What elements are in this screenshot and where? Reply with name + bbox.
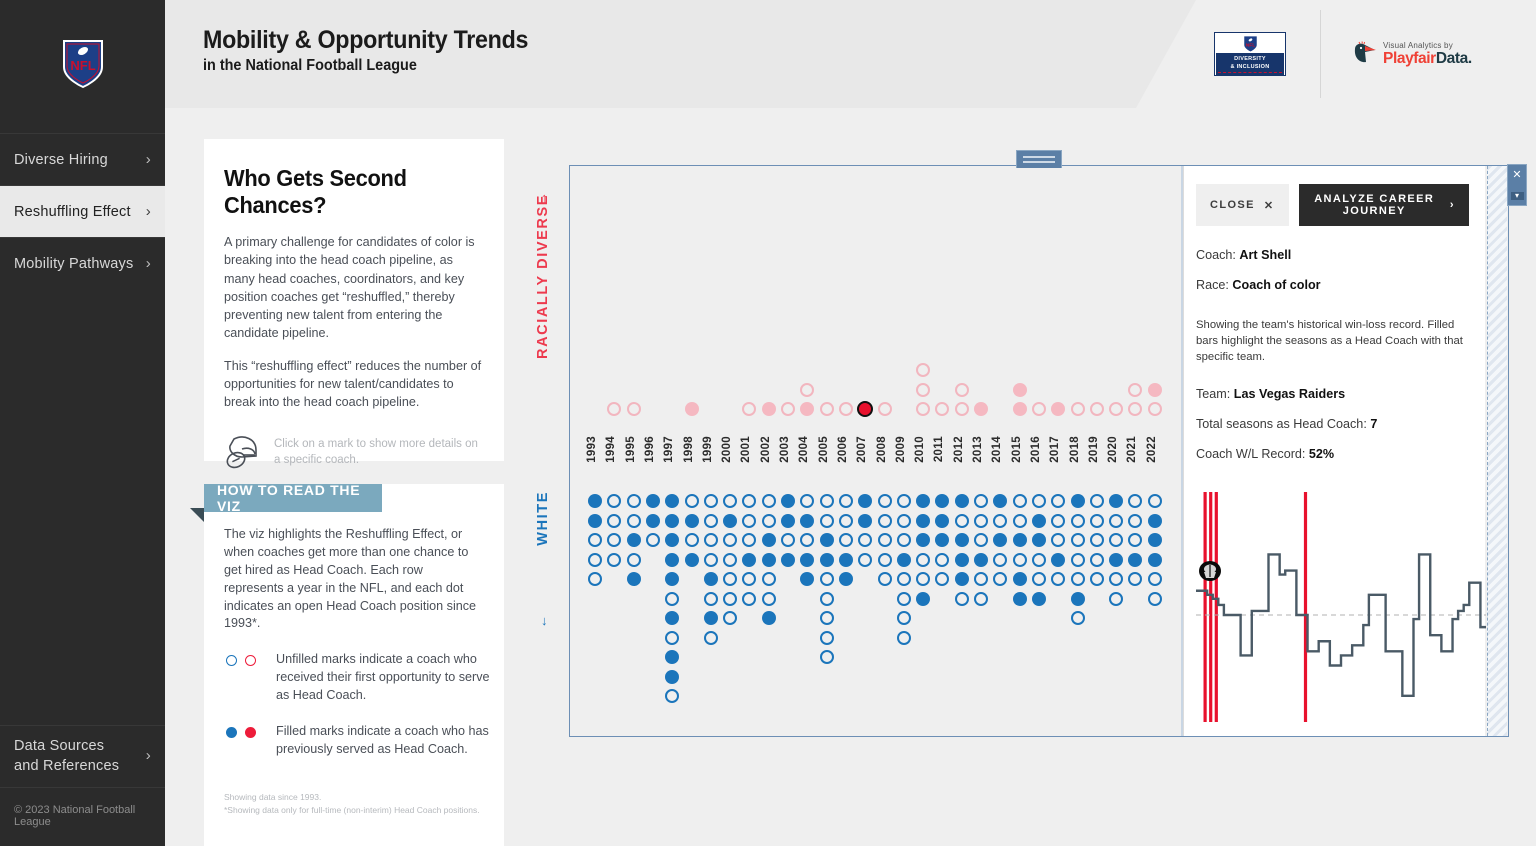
coach-dot-white[interactable] — [665, 572, 679, 586]
legend-text-filled: Filled marks indicate a coach who has pr… — [276, 723, 504, 759]
coach-dot-diverse[interactable] — [955, 383, 969, 397]
logo-divider — [1320, 10, 1321, 98]
coach-dot-diverse[interactable] — [916, 402, 930, 416]
sidebar-footer: Data Sources and References › © 2023 Nat… — [0, 725, 165, 846]
coach-dot-white[interactable] — [1071, 553, 1085, 567]
coach-dot-diverse[interactable] — [974, 402, 988, 416]
coach-dot-diverse[interactable] — [800, 402, 814, 416]
coach-dot-white[interactable] — [627, 494, 641, 508]
axis-label-white: WHITE — [535, 491, 551, 546]
coach-dot-white[interactable] — [781, 514, 795, 528]
coach-dot-white[interactable] — [588, 514, 602, 528]
coach-dot-white[interactable] — [897, 553, 911, 567]
coach-dot-white[interactable] — [800, 514, 814, 528]
coach-detail-panel: CLOSE ✕ ANALYZE CAREER JOURNEY › Coach: … — [1183, 166, 1485, 736]
year-label: 1994 — [605, 436, 617, 463]
sidebar-item-label: Data Sources and References — [14, 737, 124, 776]
coach-dot-white[interactable] — [1109, 553, 1123, 567]
coach-dot-white[interactable] — [762, 514, 776, 528]
how-to-read-tab: HOW TO READ THE VIZ — [204, 484, 382, 512]
coach-dot-white[interactable] — [704, 514, 718, 528]
coach-dot-white[interactable] — [1051, 533, 1065, 547]
header-title-block: Mobility & Opportunity Trends in the Nat… — [203, 26, 553, 75]
coach-dot-white[interactable] — [685, 533, 699, 547]
year-label: 2001 — [740, 436, 752, 463]
coach-dot-white[interactable] — [1013, 533, 1027, 547]
coach-dot-white[interactable] — [878, 572, 892, 586]
coach-dot-white[interactable] — [897, 592, 911, 606]
panel-right-frame — [1487, 166, 1507, 736]
legend-row-filled: Filled marks indicate a coach who has pr… — [218, 723, 504, 759]
legend-filled-blue-dot-icon — [226, 727, 237, 738]
coach-dot-diverse[interactable] — [1128, 383, 1142, 397]
coach-dot-white[interactable] — [1148, 592, 1162, 606]
coach-dot-white[interactable] — [1128, 514, 1142, 528]
svg-text:NFL: NFL — [1245, 42, 1255, 48]
coach-dot-white[interactable] — [1109, 572, 1123, 586]
panel-close-controls[interactable]: ✕ ▾ — [1507, 164, 1527, 206]
coach-dot-white[interactable] — [665, 611, 679, 625]
coach-dot-white[interactable] — [685, 553, 699, 567]
coach-dot-white[interactable] — [897, 631, 911, 645]
coach-dot-white[interactable] — [704, 572, 718, 586]
coach-dot-white[interactable] — [762, 572, 776, 586]
coach-dot-white[interactable] — [955, 553, 969, 567]
coach-dot-white[interactable] — [897, 494, 911, 508]
legend-filled-red-dot-icon — [245, 727, 256, 738]
coach-dot-white[interactable] — [935, 514, 949, 528]
intro-card: Who Gets Second Chances? A primary chall… — [204, 139, 504, 461]
footnotes: Showing data since 1993. *Showing data o… — [224, 791, 486, 818]
coach-dot-white[interactable] — [820, 553, 834, 567]
coach-dot-white[interactable] — [1090, 553, 1104, 567]
coach-dot-diverse[interactable] — [1090, 402, 1104, 416]
chevron-right-icon: › — [146, 746, 151, 766]
coach-dot-white[interactable] — [685, 494, 699, 508]
sidebar-item-reshuffling-effect[interactable]: Reshuffling Effect › — [0, 185, 165, 237]
copyright-text: © 2023 National Football League — [0, 787, 165, 846]
coach-label: Coach: — [1196, 248, 1236, 262]
coach-dot-diverse[interactable] — [1013, 383, 1027, 397]
coach-dot-white[interactable] — [762, 553, 776, 567]
coach-dot-white[interactable] — [665, 592, 679, 606]
coach-dot-white[interactable] — [955, 533, 969, 547]
coach-dot-white[interactable] — [665, 670, 679, 684]
coach-dot-white[interactable] — [1032, 592, 1046, 606]
coach-dot-white[interactable] — [878, 553, 892, 567]
year-label: 1996 — [644, 436, 656, 463]
coach-dot-white[interactable] — [955, 494, 969, 508]
legend-row-unfilled: Unfilled marks indicate a coach who rece… — [218, 651, 504, 705]
coach-dot-white[interactable] — [1090, 572, 1104, 586]
intro-title: Who Gets Second Chances? — [224, 165, 471, 219]
coach-dot-white[interactable] — [1032, 553, 1046, 567]
coach-dot-diverse[interactable] — [1013, 402, 1027, 416]
sidebar-item-label: Reshuffling Effect — [14, 204, 131, 220]
header-logos: NFL DIVERSITY & INCLUSION Visual Analyti… — [1190, 0, 1536, 108]
coach-dot-white[interactable] — [839, 553, 853, 567]
race-label: Race: — [1196, 278, 1229, 292]
coach-dot-white[interactable] — [955, 572, 969, 586]
coach-dot-white[interactable] — [781, 494, 795, 508]
sidebar-item-label: Diverse Hiring — [14, 152, 108, 168]
coach-dot-white[interactable] — [897, 514, 911, 528]
coach-dot-white[interactable] — [704, 553, 718, 567]
coach-dot-white[interactable] — [820, 533, 834, 547]
coach-dot-diverse[interactable] — [935, 402, 949, 416]
coach-dot-white[interactable] — [800, 533, 814, 547]
legend-marks-filled — [218, 723, 264, 738]
coach-dot-white[interactable] — [878, 494, 892, 508]
sidebar-item-mobility-pathways[interactable]: Mobility Pathways › — [0, 237, 165, 289]
chevron-right-icon: › — [1450, 199, 1455, 211]
coach-dot-white[interactable] — [704, 592, 718, 606]
coach-dot-diverse[interactable] — [1051, 402, 1065, 416]
intro-paragraph-2: This “reshuffling effect” reduces the nu… — [224, 357, 484, 412]
win-loss-record-chart — [1196, 488, 1486, 730]
coach-dot-white[interactable] — [665, 494, 679, 508]
coach-dot-diverse[interactable] — [1148, 402, 1162, 416]
coach-dot-diverse[interactable] — [820, 402, 834, 416]
coach-dot-white[interactable] — [974, 553, 988, 567]
coach-dot-white[interactable] — [916, 514, 930, 528]
coach-dot-white[interactable] — [627, 533, 641, 547]
coach-dot-white[interactable] — [1051, 572, 1065, 586]
chevron-down-icon[interactable]: ▾ — [1511, 192, 1524, 200]
coach-dot-white[interactable] — [935, 533, 949, 547]
playfair-tagline: Visual Analytics by — [1383, 41, 1472, 50]
coach-dot-white[interactable] — [1148, 553, 1162, 567]
coach-dot-white[interactable] — [723, 533, 737, 547]
sidebar-logo: NFL — [0, 0, 165, 125]
coach-dot-white[interactable] — [723, 592, 737, 606]
coach-dot-white[interactable] — [665, 533, 679, 547]
raiders-logo-icon — [1198, 560, 1222, 582]
analyze-career-journey-button[interactable]: ANALYZE CAREER JOURNEY › — [1299, 184, 1469, 226]
legend-marks-unfilled — [218, 651, 264, 666]
page-subtitle: in the National Football League — [203, 57, 528, 75]
coach-dot-white[interactable] — [993, 553, 1007, 567]
coach-dot-white[interactable] — [974, 494, 988, 508]
coach-dot-white[interactable] — [1148, 572, 1162, 586]
year-label: 2015 — [1011, 436, 1023, 463]
coach-dot-white[interactable] — [839, 494, 853, 508]
coach-dot-white[interactable] — [665, 514, 679, 528]
race-row: Race: Coach of color — [1196, 278, 1469, 292]
close-icon: ✕ — [1264, 199, 1275, 212]
coach-dot-white[interactable] — [665, 650, 679, 664]
coach-dot-white[interactable] — [1013, 592, 1027, 606]
year-label: 2020 — [1107, 436, 1119, 463]
coach-dot-white[interactable] — [800, 553, 814, 567]
coach-dot-diverse[interactable] — [742, 402, 756, 416]
coach-dot-white[interactable] — [1148, 533, 1162, 547]
coach-dot-white[interactable] — [1148, 514, 1162, 528]
close-button-label: CLOSE — [1210, 199, 1255, 211]
record-label: Coach W/L Record: — [1196, 447, 1305, 461]
playfair-data-logo: Visual Analytics by PlayfairData. — [1351, 40, 1472, 68]
coach-dot-white[interactable] — [607, 514, 621, 528]
coach-dot-white[interactable] — [974, 592, 988, 606]
year-label: 2011 — [933, 436, 945, 462]
coach-dot-white[interactable] — [820, 494, 834, 508]
coach-dot-diverse[interactable] — [762, 402, 776, 416]
coach-dot-white[interactable] — [1013, 553, 1027, 567]
coach-dot-white[interactable] — [955, 514, 969, 528]
year-label: 2004 — [798, 436, 810, 463]
footnote-2: *Showing data only for full-time (non-in… — [224, 804, 486, 818]
coach-dot-white[interactable] — [781, 553, 795, 567]
kingfisher-bird-icon — [1351, 40, 1377, 68]
coach-dot-white[interactable] — [858, 553, 872, 567]
coach-dot-white[interactable] — [916, 533, 930, 547]
coach-dot-white[interactable] — [1090, 494, 1104, 508]
coach-dot-white[interactable] — [1109, 514, 1123, 528]
year-label: 2013 — [972, 436, 984, 463]
coach-dot-white[interactable] — [858, 494, 872, 508]
chevron-right-icon: › — [146, 203, 151, 220]
coach-dot-white[interactable] — [704, 631, 718, 645]
coach-dot-white[interactable] — [1071, 514, 1085, 528]
year-label: 2000 — [721, 436, 733, 463]
coach-dot-white[interactable] — [1109, 592, 1123, 606]
coach-dot-white[interactable] — [1032, 514, 1046, 528]
coach-dot-white[interactable] — [1051, 514, 1065, 528]
coach-dot-white[interactable] — [1013, 572, 1027, 586]
coach-dot-white[interactable] — [762, 494, 776, 508]
coach-dot-white[interactable] — [974, 514, 988, 528]
coach-dot-diverse[interactable] — [878, 402, 892, 416]
coach-dot-white[interactable] — [607, 494, 621, 508]
head-coach-season-highlight — [1209, 492, 1212, 722]
coach-dot-diverse[interactable] — [1032, 402, 1046, 416]
coach-dot-white[interactable] — [1071, 533, 1085, 547]
record-row: Coach W/L Record: 52% — [1196, 447, 1469, 461]
coach-dot-white[interactable] — [916, 572, 930, 586]
coach-dot-white[interactable] — [607, 533, 621, 547]
coach-dot-white[interactable] — [993, 514, 1007, 528]
seasons-label: Total seasons as Head Coach: — [1196, 417, 1367, 431]
coach-dot-white[interactable] — [878, 514, 892, 528]
analyze-button-label: ANALYZE CAREER JOURNEY — [1313, 193, 1436, 217]
coach-dot-white[interactable] — [820, 572, 834, 586]
year-label: 2017 — [1049, 436, 1061, 463]
coach-dot-white[interactable] — [627, 572, 641, 586]
coach-dot-white[interactable] — [742, 514, 756, 528]
panel-drag-handle[interactable] — [1016, 150, 1062, 168]
year-label: 2014 — [991, 436, 1003, 463]
coach-dot-white[interactable] — [1109, 494, 1123, 508]
coach-dot-white[interactable] — [993, 494, 1007, 508]
nfl-diversity-inclusion-logo: NFL DIVERSITY & INCLUSION — [1214, 32, 1286, 76]
coach-dot-white[interactable] — [646, 514, 660, 528]
coach-dot-white[interactable] — [685, 514, 699, 528]
coach-dot-white[interactable] — [993, 572, 1007, 586]
tab-shadow-decoration — [190, 508, 204, 522]
close-button[interactable]: CLOSE ✕ — [1196, 184, 1289, 226]
coach-dot-white[interactable] — [646, 494, 660, 508]
coach-dot-white[interactable] — [1071, 592, 1085, 606]
coach-dot-white[interactable] — [742, 572, 756, 586]
click-hint: Click on a mark to show more details on … — [222, 433, 486, 471]
coach-dot-white[interactable] — [800, 572, 814, 586]
coach-dot-white[interactable] — [1071, 611, 1085, 625]
intro-paragraph-1: A primary challenge for candidates of co… — [224, 233, 484, 343]
year-label: 2008 — [876, 436, 888, 463]
sidebar-item-data-sources[interactable]: Data Sources and References › — [0, 725, 165, 787]
coach-dot-white[interactable] — [897, 572, 911, 586]
coach-dot-white[interactable] — [897, 611, 911, 625]
playfair-brand-b: Data — [1436, 50, 1468, 67]
coach-dot-white[interactable] — [820, 592, 834, 606]
coach-dot-white[interactable] — [839, 533, 853, 547]
axis-arrow-down-icon: ↓ — [541, 614, 548, 627]
legend-text-unfilled: Unfilled marks indicate a coach who rece… — [276, 651, 504, 705]
coach-dot-diverse[interactable] — [800, 383, 814, 397]
coach-dot-diverse[interactable] — [955, 402, 969, 416]
coach-dot-white[interactable] — [1090, 514, 1104, 528]
coach-dot-white[interactable] — [916, 494, 930, 508]
coach-dot-white[interactable] — [1071, 494, 1085, 508]
di-line-1: DIVERSITY — [1216, 56, 1284, 64]
coach-dot-white[interactable] — [858, 533, 872, 547]
coach-dot-diverse[interactable] — [627, 402, 641, 416]
selected-coach-dot[interactable] — [857, 401, 873, 417]
coach-dot-white[interactable] — [742, 533, 756, 547]
year-label: 2022 — [1146, 436, 1158, 463]
coach-dot-white[interactable] — [1051, 494, 1065, 508]
coach-dot-white[interactable] — [935, 572, 949, 586]
coach-dot-white[interactable] — [993, 533, 1007, 547]
coach-dot-white[interactable] — [1090, 533, 1104, 547]
coach-row: Coach: Art Shell — [1196, 248, 1469, 262]
race-value: Coach of color — [1232, 278, 1320, 292]
coach-dot-white[interactable] — [1148, 494, 1162, 508]
coach-dot-white[interactable] — [935, 553, 949, 567]
coach-dot-white[interactable] — [1128, 494, 1142, 508]
coach-dot-white[interactable] — [704, 494, 718, 508]
year-label: 2009 — [895, 436, 907, 463]
coach-dot-white[interactable] — [762, 611, 776, 625]
coach-dot-white[interactable] — [800, 494, 814, 508]
coach-dot-white[interactable] — [723, 611, 737, 625]
sidebar: NFL Diverse Hiring › Reshuffling Effect … — [0, 0, 165, 846]
coach-dot-white[interactable] — [723, 494, 737, 508]
legend-open-blue-dot-icon — [226, 655, 237, 666]
coach-dot-white[interactable] — [820, 631, 834, 645]
coach-dot-white[interactable] — [762, 533, 776, 547]
close-icon[interactable]: ✕ — [1512, 170, 1521, 181]
coach-dot-white[interactable] — [820, 611, 834, 625]
coach-dot-white[interactable] — [820, 514, 834, 528]
year-label: 1998 — [683, 436, 695, 463]
coach-dot-white[interactable] — [1032, 533, 1046, 547]
playfair-brand: PlayfairData. — [1383, 50, 1472, 68]
coach-dot-white[interactable] — [723, 572, 737, 586]
coach-dot-white[interactable] — [1051, 553, 1065, 567]
year-label: 2005 — [818, 436, 830, 463]
coach-dot-diverse[interactable] — [607, 402, 621, 416]
axis-label-racially-diverse: RACIALLY DIVERSE — [535, 194, 551, 359]
coach-dot-white[interactable] — [839, 514, 853, 528]
coach-dot-white[interactable] — [723, 553, 737, 567]
nfl-shield-icon: NFL — [1243, 35, 1258, 52]
coach-dot-white[interactable] — [742, 592, 756, 606]
coach-dot-white[interactable] — [1013, 494, 1027, 508]
coach-dot-white[interactable] — [1128, 533, 1142, 547]
coach-dot-white[interactable] — [1109, 533, 1123, 547]
coach-dot-diverse[interactable] — [916, 383, 930, 397]
coach-dot-white[interactable] — [627, 514, 641, 528]
di-logo-rule — [1218, 72, 1282, 73]
coach-dot-white[interactable] — [588, 533, 602, 547]
coach-dot-white[interactable] — [665, 689, 679, 703]
coach-dot-white[interactable] — [665, 553, 679, 567]
coach-dot-white[interactable] — [935, 494, 949, 508]
coach-dot-white[interactable] — [588, 553, 602, 567]
coach-dot-white[interactable] — [665, 631, 679, 645]
coach-dot-white[interactable] — [820, 650, 834, 664]
team-label: Team: — [1196, 387, 1230, 401]
coach-dot-diverse[interactable] — [781, 402, 795, 416]
coach-dot-white[interactable] — [781, 533, 795, 547]
coach-dot-white[interactable] — [588, 494, 602, 508]
coach-dot-diverse[interactable] — [839, 402, 853, 416]
coach-dot-white[interactable] — [742, 494, 756, 508]
coach-dot-white[interactable] — [839, 572, 853, 586]
sidebar-item-diverse-hiring[interactable]: Diverse Hiring › — [0, 133, 165, 185]
coach-dot-white[interactable] — [878, 533, 892, 547]
coach-dot-white[interactable] — [723, 514, 737, 528]
coach-dot-white[interactable] — [955, 592, 969, 606]
year-label: 2010 — [914, 436, 926, 463]
coach-dot-white[interactable] — [627, 553, 641, 567]
coach-dot-white[interactable] — [1032, 494, 1046, 508]
coach-dot-white[interactable] — [704, 533, 718, 547]
coach-dot-white[interactable] — [916, 553, 930, 567]
year-label: 1993 — [586, 436, 598, 463]
coach-dot-white[interactable] — [1032, 572, 1046, 586]
coach-dot-white[interactable] — [704, 611, 718, 625]
coach-dot-white[interactable] — [646, 533, 660, 547]
coach-dot-diverse[interactable] — [1109, 402, 1123, 416]
coach-dot-diverse[interactable] — [1071, 402, 1085, 416]
coach-dot-white[interactable] — [897, 533, 911, 547]
coach-dot-white[interactable] — [858, 514, 872, 528]
year-label: 2012 — [953, 436, 965, 463]
coach-dot-white[interactable] — [1128, 572, 1142, 586]
coach-dot-white[interactable] — [1128, 553, 1142, 567]
chevron-right-icon: › — [146, 151, 151, 168]
year-label: 2021 — [1126, 436, 1138, 463]
coach-dot-white[interactable] — [762, 592, 776, 606]
coach-dot-white[interactable] — [916, 592, 930, 606]
coach-dot-diverse[interactable] — [916, 363, 930, 377]
coach-dot-diverse[interactable] — [1128, 402, 1142, 416]
sidebar-nav: Diverse Hiring › Reshuffling Effect › Mo… — [0, 133, 165, 289]
click-hint-text: Click on a mark to show more details on … — [274, 433, 486, 468]
coach-dot-white[interactable] — [742, 553, 756, 567]
coach-dot-white[interactable] — [974, 572, 988, 586]
sidebar-item-label: Mobility Pathways — [14, 256, 133, 272]
coach-dot-diverse[interactable] — [1148, 383, 1162, 397]
coach-dot-white[interactable] — [974, 533, 988, 547]
coach-dot-white[interactable] — [607, 553, 621, 567]
coach-dot-diverse[interactable] — [685, 402, 699, 416]
coach-dot-white[interactable] — [1071, 572, 1085, 586]
coach-dot-white[interactable] — [1013, 514, 1027, 528]
coach-dot-white[interactable] — [588, 572, 602, 586]
